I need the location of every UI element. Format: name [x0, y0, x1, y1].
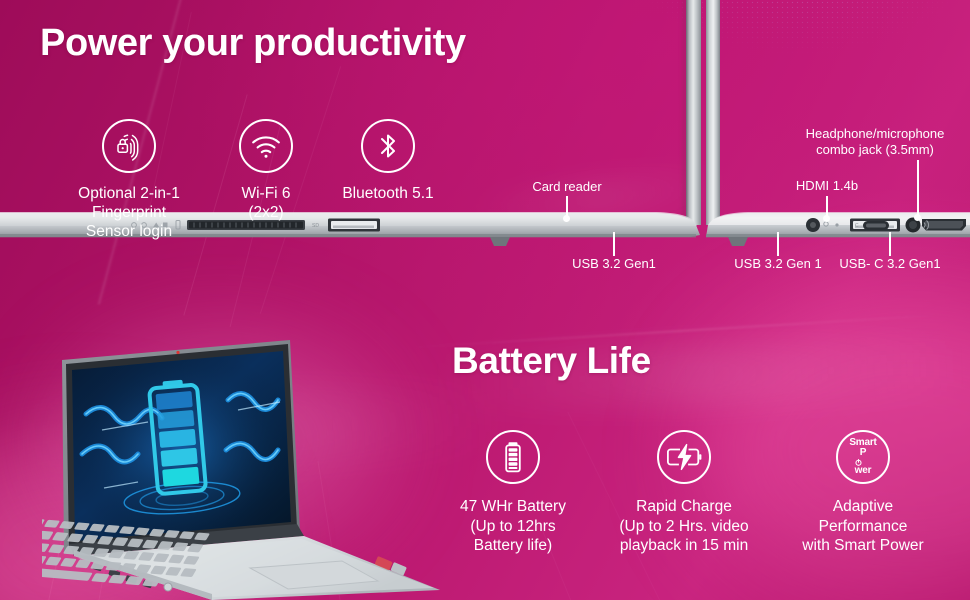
feature-label: Bluetooth 5.1 [327, 184, 449, 203]
rapid-charge-icon [657, 430, 711, 484]
promo-banner: SD SS [0, 0, 970, 600]
smart-power-text: Smart Pwer [849, 438, 876, 477]
battery-feature-smart-power: Smart Pwer Adaptive Performance with Sma… [780, 430, 946, 556]
feature-label: Optional 2-in-1 Fingerprint Sensor login [48, 184, 210, 241]
callout-dot [563, 215, 570, 222]
feature-wifi: Wi-Fi 6 (2x2) [205, 119, 327, 222]
battery-feature-label: Rapid Charge (Up to 2 Hrs. video playbac… [600, 497, 768, 556]
svg-text:...: ... [960, 227, 964, 232]
fingerprint-lock-icon [102, 119, 156, 173]
bluetooth-icon [361, 119, 415, 173]
callout-leader [613, 232, 615, 256]
smart-power-line2: Pwer [855, 448, 872, 476]
callout-leader [777, 232, 779, 256]
dot-grid-texture [600, 0, 970, 90]
laptop-hero-open [42, 322, 472, 600]
laptop-right-lid [706, 0, 720, 225]
svg-text:C: C [855, 223, 859, 229]
battery-feature-capacity: 47 WHr Battery (Up to 12hrs Battery life… [430, 430, 596, 556]
page-title: Power your productivity [40, 22, 466, 65]
battery-feature-rapid-charge: Rapid Charge (Up to 2 Hrs. video playbac… [600, 430, 768, 556]
callout-usb-left: USB 3.2 Gen1 [550, 256, 678, 272]
battery-feature-label: Adaptive Performance with Smart Power [780, 497, 946, 556]
battery-feature-label: 47 WHr Battery (Up to 12hrs Battery life… [430, 497, 596, 556]
smart-power-line1: Smart [849, 437, 876, 448]
callout-dot [914, 214, 921, 221]
laptop-right-ports-usbc-jack: C ... [855, 205, 970, 255]
wifi-icon [239, 119, 293, 173]
battery-full-icon [486, 430, 540, 484]
feature-fingerprint: Optional 2-in-1 Fingerprint Sensor login [48, 119, 210, 241]
callout-usb-c: USB- C 3.2 Gen1 [822, 256, 958, 272]
feature-bluetooth: Bluetooth 5.1 [327, 119, 449, 203]
battery-section-title: Battery Life [452, 340, 651, 382]
callout-leader [889, 232, 891, 256]
callout-headphone-jack: Headphone/microphone combo jack (3.5mm) [780, 126, 970, 158]
smart-power-badge: Smart Pwer [836, 430, 890, 484]
callout-leader [917, 160, 919, 217]
callout-dot [823, 215, 830, 222]
svg-text:SD: SD [312, 223, 319, 229]
feature-label: Wi-Fi 6 (2x2) [205, 184, 327, 222]
laptop-left-lid-shadow [683, 0, 687, 225]
callout-card-reader: Card reader [512, 179, 622, 195]
laptop-left-lid [686, 0, 701, 225]
callout-hdmi: HDMI 1.4b [772, 178, 882, 194]
